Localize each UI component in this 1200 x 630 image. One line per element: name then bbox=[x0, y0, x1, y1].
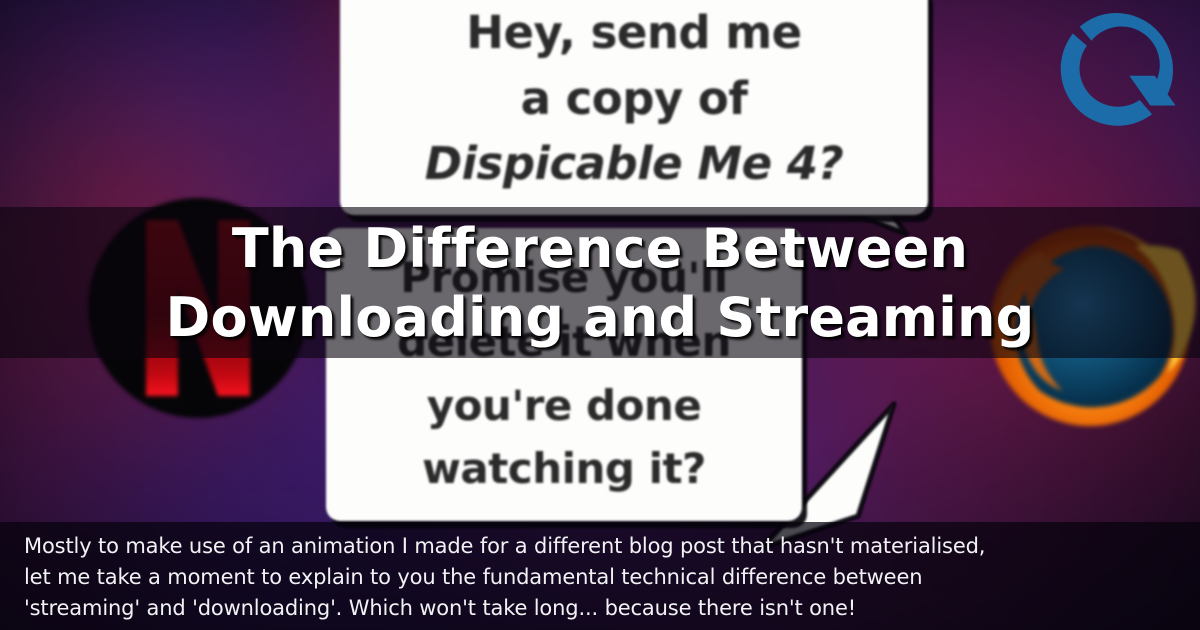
speech-bubble-bottom-line-3: you're done bbox=[348, 374, 780, 438]
caption-line-3: 'streaming' and 'downloading'. Which won… bbox=[24, 593, 1180, 624]
caption-band: Mostly to make use of an animation I mad… bbox=[0, 522, 1200, 630]
speech-bubble-bottom-line-4: watching it? bbox=[348, 437, 780, 501]
speech-bubble-top-line-2: a copy of bbox=[364, 66, 904, 132]
caption-line-1: Mostly to make use of an animation I mad… bbox=[24, 531, 1180, 562]
q-logo-icon bbox=[1054, 8, 1178, 132]
page-title-line-1: The Difference Between bbox=[232, 214, 968, 283]
hero-banner: Hey, send me a copy of Dispicable Me 4? … bbox=[0, 0, 1200, 630]
title-band: The Difference Between Downloading and S… bbox=[0, 207, 1200, 358]
caption-line-2: let me take a moment to explain to you t… bbox=[24, 562, 1180, 593]
speech-bubble-top-line-1: Hey, send me bbox=[364, 0, 904, 66]
page-title-line-2: Downloading and Streaming bbox=[166, 283, 1035, 352]
speech-bubble-top: Hey, send me a copy of Dispicable Me 4? bbox=[340, 0, 928, 215]
speech-bubble-top-line-3: Dispicable Me 4? bbox=[364, 131, 904, 197]
